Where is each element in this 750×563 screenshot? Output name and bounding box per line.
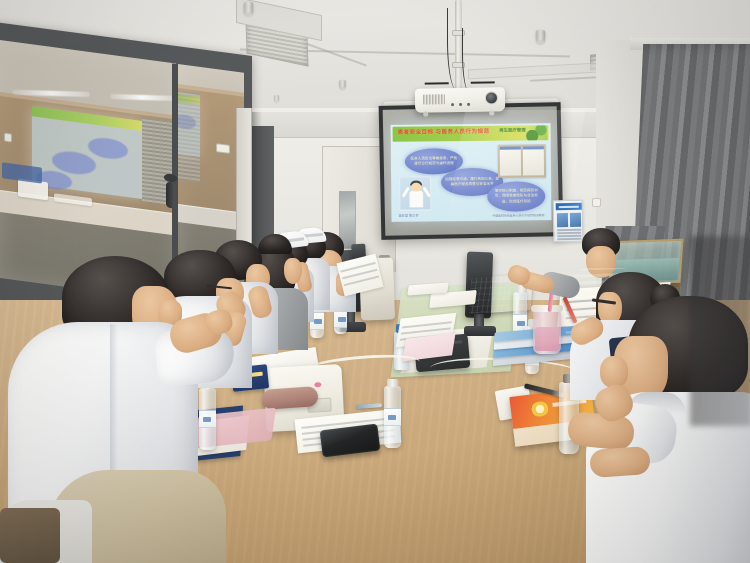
projector-port <box>467 103 470 106</box>
power-outlet[interactable] <box>4 133 12 143</box>
slide-bubble: 落实核心制度，规范病历书写，保障患者隐私与合法权益，防范医疗风险 <box>487 181 545 212</box>
ear-jaw <box>600 356 628 388</box>
sprinkler-icon <box>339 80 345 89</box>
cup-contents <box>535 327 559 351</box>
slide-subtitle: 再生医疗管理 <box>499 127 525 133</box>
slide-cartoon-doctor <box>399 176 431 210</box>
projector-foot <box>489 110 494 115</box>
chair[interactable] <box>0 508 60 563</box>
projector-bracket <box>471 81 495 83</box>
slide-bubble-text: 医务人员应当尊重患者，严格遵守诊疗规范与操作流程 <box>405 156 463 167</box>
wall-thermostat[interactable] <box>592 198 601 207</box>
projector-lens-icon <box>485 91 498 104</box>
water-bottle[interactable] <box>199 388 216 450</box>
wall-poster <box>553 200 584 243</box>
poster-images <box>557 213 581 227</box>
projector-bracket <box>425 82 449 84</box>
sprinkler-icon <box>274 95 279 102</box>
slide-footer-left: 第五章 第三节 <box>398 213 418 218</box>
leaf-graphic-icon <box>526 125 548 140</box>
power-outlet[interactable] <box>216 143 230 154</box>
poster-header <box>556 203 582 210</box>
monitor-base <box>464 326 496 336</box>
drink-cup[interactable] <box>533 310 561 354</box>
slide-footer-right: 中国医院协会医务人员行为规范培训教材 <box>492 213 544 218</box>
slide-document-photo <box>498 144 546 178</box>
printer-indicator <box>314 382 321 387</box>
screen-reflection <box>32 106 142 199</box>
bottle-label <box>199 410 216 428</box>
projected-slide: 患者安全目标 与医务人员行为规范 再生医疗管理 医务人员应当尊重患者，严格遵守诊… <box>391 123 552 222</box>
projector-foot <box>423 112 428 117</box>
poster-text-lines <box>557 229 581 242</box>
slide-bubble-text: 落实核心制度，规范病历书写，保障患者隐私与合法权益，防范医疗风险 <box>487 188 545 204</box>
projector-port <box>451 103 454 106</box>
projector-cable <box>447 8 463 90</box>
window-latch[interactable] <box>166 181 175 208</box>
forearm <box>589 446 651 478</box>
projector-vent <box>423 94 445 104</box>
screen-surface: 患者安全目标 与医务人员行为规范 再生医疗管理 医务人员应当尊重患者，严格遵守诊… <box>383 106 560 236</box>
ceiling-projector <box>415 87 505 113</box>
slide-title: 患者安全目标 与医务人员行为规范 <box>398 127 490 136</box>
projector-port <box>459 103 462 106</box>
photo-scene: 患者安全目标 与医务人员行为规范 再生医疗管理 医务人员应当尊重患者，严格遵守诊… <box>0 0 750 563</box>
sprinkler-icon <box>536 30 545 43</box>
rolled-cloth <box>261 386 318 410</box>
bottle-cap <box>387 379 398 387</box>
face <box>284 258 302 284</box>
bottle-label <box>334 310 347 328</box>
bottle-label <box>384 408 401 426</box>
projection-screen: 患者安全目标 与医务人员行为规范 再生医疗管理 医务人员应当尊重患者，严格遵守诊… <box>379 102 564 240</box>
water-bottle[interactable] <box>384 386 401 448</box>
background-shadow <box>690 236 750 426</box>
